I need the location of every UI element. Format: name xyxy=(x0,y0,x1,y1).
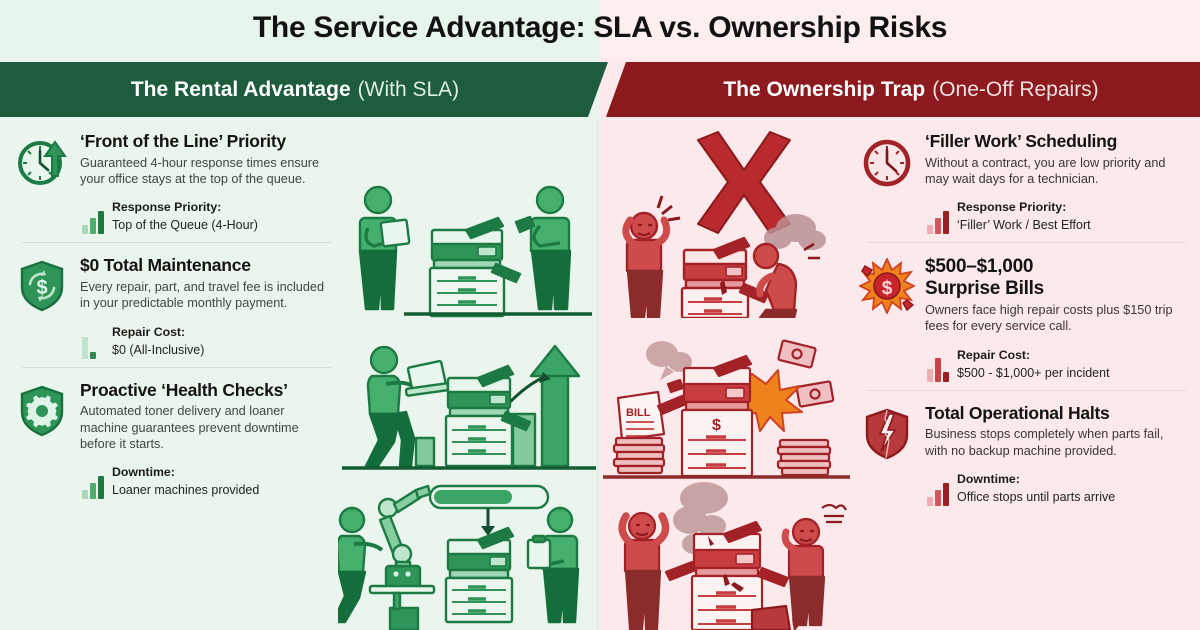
shield-gear-icon xyxy=(14,383,70,439)
bar-chart-ascending-icon xyxy=(82,475,104,499)
bar-chart-ascending-icon xyxy=(927,210,949,234)
right-divider-2 xyxy=(867,390,1186,391)
right-header-light: (One-Off Repairs) xyxy=(932,78,1099,102)
left-item-3-body: Automated toner delivery and loaner mach… xyxy=(80,403,331,452)
right-column-header: The Ownership Trap (One-Off Repairs) xyxy=(604,62,1200,117)
left-item-3-heading: Proactive ‘Health Checks’ xyxy=(80,381,331,401)
worker-with-laptop-growth-arrow-illustration xyxy=(338,330,600,478)
svg-text:$: $ xyxy=(712,417,721,434)
right-item-1-body: Without a contract, you are low priority… xyxy=(925,155,1186,188)
right-item-operational-halts: Total Operational Halts Business stops c… xyxy=(845,390,1200,514)
infographic-page: The Service Advantage: SLA vs. Ownership… xyxy=(0,0,1200,630)
right-item-2-metric: Repair Cost: $500 - $1,000+ per incident xyxy=(925,346,1186,382)
right-item-2-metric-value: $500 - $1,000+ per incident xyxy=(957,366,1110,380)
bar-chart-ascending-icon xyxy=(927,482,949,506)
left-item-front-of-the-line: ‘Front of the Line’ Priority Guaranteed … xyxy=(0,118,345,242)
left-item-2-metric-value: $0 (All-Inclusive) xyxy=(112,343,204,357)
dollar-explosion-icon: $ xyxy=(859,258,915,314)
page-title: The Service Advantage: SLA vs. Ownership… xyxy=(0,0,1200,56)
bar-chart-low-icon xyxy=(82,335,104,359)
left-item-3-metric-label: Downtime: xyxy=(112,465,175,479)
right-item-2-heading-line2: Surprise Bills xyxy=(925,278,1186,299)
right-item-3-metric-value: Office stops until parts arrive xyxy=(957,490,1115,504)
left-column: ‘Front of the Line’ Priority Guaranteed … xyxy=(0,118,345,507)
right-item-3-body: Business stops completely when parts fai… xyxy=(925,426,1186,459)
left-header-strong: The Rental Advantage xyxy=(131,78,351,102)
shield-broken-bolt-icon xyxy=(859,406,915,462)
left-item-1-metric-value: Top of the Queue (4-Hour) xyxy=(112,218,258,232)
left-header-light: (With SLA) xyxy=(358,78,460,102)
bill-label: BILL xyxy=(626,407,651,419)
right-item-2-body: Owners face high repair costs plus $150 … xyxy=(925,302,1186,335)
left-item-2-heading: $0 Total Maintenance xyxy=(80,256,331,276)
left-column-header: The Rental Advantage (With SLA) xyxy=(0,62,608,117)
right-item-surprise-bills: $ $500–$1,000 Surprise Bills Owners face… xyxy=(845,242,1200,389)
right-item-2-metric-label: Repair Cost: xyxy=(957,348,1030,362)
left-item-1-metric: Response Priority: Top of the Queue (4-H… xyxy=(80,198,331,234)
right-item-1-metric-label: Response Priority: xyxy=(957,200,1066,214)
left-divider-1 xyxy=(22,242,331,243)
right-item-3-metric: Downtime: Office stops until parts arriv… xyxy=(925,470,1186,506)
right-divider-1 xyxy=(867,242,1186,243)
right-item-filler-work: ‘Filler Work’ Scheduling Without a contr… xyxy=(845,118,1200,242)
left-divider-2 xyxy=(22,367,331,368)
left-item-1-body: Guaranteed 4-hour response times ensure … xyxy=(80,155,331,188)
right-item-2-heading: $500–$1,000 xyxy=(925,256,1186,277)
center-divider xyxy=(597,117,603,630)
column-headers: The Rental Advantage (With SLA) The Owne… xyxy=(0,62,1200,117)
svg-text:$: $ xyxy=(882,278,893,299)
right-column: ‘Filler Work’ Scheduling Without a contr… xyxy=(845,118,1200,514)
left-item-zero-maintenance: $ $0 Total Maintenance Every repair, par… xyxy=(0,242,345,366)
left-item-1-metric-label: Response Priority: xyxy=(112,200,221,214)
right-item-3-metric-label: Downtime: xyxy=(957,472,1020,486)
smoking-broken-copier-stressed-workers-illustration xyxy=(600,482,852,630)
right-item-1-heading: ‘Filler Work’ Scheduling xyxy=(925,132,1186,152)
right-item-1-metric-value: ‘Filler’ Work / Best Effort xyxy=(957,218,1091,232)
frustrated-workers-broken-copier-x-mark-illustration xyxy=(600,128,852,318)
left-item-3-metric: Downtime: Loaner machines provided xyxy=(80,463,331,499)
copier-explosion-money-bills-illustration: BILL xyxy=(600,322,852,480)
left-item-2-body: Every repair, part, and travel fee is in… xyxy=(80,279,331,312)
svg-text:$: $ xyxy=(36,277,47,299)
right-item-1-metric: Response Priority: ‘Filler’ Work / Best … xyxy=(925,198,1186,234)
clock-arrow-icon xyxy=(14,134,70,190)
right-header-strong: The Ownership Trap xyxy=(723,78,925,102)
bar-chart-mixed-icon xyxy=(927,358,949,382)
shield-dollar-recycle-icon: $ xyxy=(14,258,70,314)
left-item-2-metric: Repair Cost: $0 (All-Inclusive) xyxy=(80,323,331,359)
robot-arm-progress-bar-maintenance-illustration xyxy=(338,478,600,630)
left-item-2-metric-label: Repair Cost: xyxy=(112,325,185,339)
bar-chart-ascending-icon xyxy=(82,210,104,234)
left-item-3-metric-value: Loaner machines provided xyxy=(112,483,259,497)
clock-red-icon xyxy=(859,134,915,190)
left-item-health-checks: Proactive ‘Health Checks’ Automated tone… xyxy=(0,367,345,508)
technicians-servicing-copier-illustration xyxy=(338,178,600,318)
left-item-1-heading: ‘Front of the Line’ Priority xyxy=(80,132,331,152)
right-item-3-heading: Total Operational Halts xyxy=(925,404,1186,424)
